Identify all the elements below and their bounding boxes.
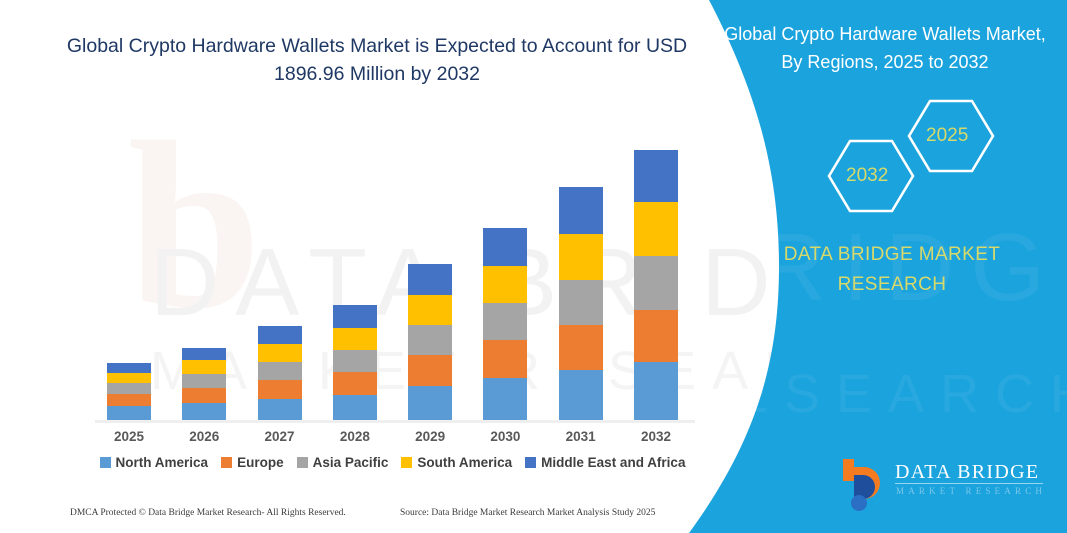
dbmr-logo-tagline: MARKET RESEARCH (896, 486, 1046, 496)
bar-segment[interactable] (107, 394, 151, 406)
bar-segment[interactable] (333, 305, 377, 328)
bar-segment[interactable] (182, 348, 226, 360)
x-tick-2028: 2028 (333, 429, 377, 449)
legend-label: Middle East and Africa (541, 455, 685, 470)
bar-column-2029[interactable] (408, 264, 452, 420)
bar-segment[interactable] (634, 202, 678, 256)
legend-item[interactable]: North America (100, 455, 209, 470)
legend-item[interactable]: Europe (221, 455, 284, 470)
dbmr-logo: DATA BRIDGE MARKET RESEARCH (837, 455, 1052, 513)
brand-text: DATA BRIDGE MARKET RESEARCH (742, 240, 1042, 300)
legend-item[interactable]: Asia Pacific (297, 455, 389, 470)
bar-segment[interactable] (258, 344, 302, 362)
x-axis-labels: 20252026202720282029203020312032 (95, 429, 690, 449)
legend-swatch-icon (100, 457, 111, 468)
bar-segment[interactable] (182, 388, 226, 403)
bar-segment[interactable] (258, 380, 302, 399)
legend-item[interactable]: Middle East and Africa (525, 455, 685, 470)
legend-item[interactable]: South America (401, 455, 512, 470)
footer: DMCA Protected © Data Bridge Market Rese… (0, 508, 700, 528)
bar-column-2026[interactable] (182, 348, 226, 420)
bar-segment[interactable] (107, 383, 151, 394)
footer-source: Source: Data Bridge Market Research Mark… (400, 508, 655, 518)
bar-segment[interactable] (559, 234, 603, 280)
legend-label: North America (116, 455, 209, 470)
dbmr-logo-rule (895, 483, 1043, 484)
bar-segment[interactable] (483, 378, 527, 420)
bar-segment[interactable] (559, 325, 603, 370)
bar-segment[interactable] (408, 325, 452, 355)
infographic-page: b DATA BRIDGE MARKET RESEARCH Global Cry… (0, 0, 1067, 533)
bar-segment[interactable] (634, 256, 678, 310)
bar-segment[interactable] (333, 350, 377, 372)
bar-segment[interactable] (559, 280, 603, 325)
x-tick-2029: 2029 (408, 429, 452, 449)
bar-segment[interactable] (483, 228, 527, 266)
bar-segment[interactable] (333, 328, 377, 350)
bar-segment[interactable] (258, 326, 302, 344)
bar-segment[interactable] (107, 373, 151, 383)
bar-column-2032[interactable] (634, 150, 678, 420)
legend-label: Europe (237, 455, 284, 470)
legend-swatch-icon (525, 457, 536, 468)
brand-panel: BRIDGE RESEARCH Global Crypto Hardware W… (687, 0, 1067, 533)
legend-label: Asia Pacific (313, 455, 389, 470)
bar-column-2025[interactable] (107, 363, 151, 420)
dbmr-logo-name: DATA BRIDGE (895, 461, 1039, 484)
bar-segment[interactable] (634, 150, 678, 202)
bar-segment[interactable] (634, 310, 678, 362)
bar-segment[interactable] (333, 395, 377, 420)
bar-segment[interactable] (333, 372, 377, 395)
x-tick-2032: 2032 (634, 429, 678, 449)
legend-label: South America (417, 455, 512, 470)
legend-swatch-icon (221, 457, 232, 468)
hexagon-pair: 2025 2032 (782, 95, 1012, 225)
footer-copyright: DMCA Protected © Data Bridge Market Rese… (70, 508, 346, 518)
bar-segment[interactable] (408, 295, 452, 325)
x-tick-2027: 2027 (258, 429, 302, 449)
brand-line-2: RESEARCH (742, 270, 1042, 300)
bar-segment[interactable] (483, 303, 527, 340)
bar-segment[interactable] (408, 386, 452, 420)
panel-title: Global Crypto Hardware Wallets Market, B… (720, 20, 1050, 76)
bar-segment[interactable] (258, 399, 302, 420)
bar-column-2031[interactable] (559, 187, 603, 420)
legend-swatch-icon (401, 457, 412, 468)
bar-segment[interactable] (559, 187, 603, 234)
bar-segment[interactable] (408, 355, 452, 386)
chart-legend: North AmericaEuropeAsia PacificSouth Ame… (95, 455, 690, 470)
bar-segment[interactable] (107, 363, 151, 373)
x-tick-2025: 2025 (107, 429, 151, 449)
bar-segment[interactable] (107, 406, 151, 420)
bar-segment[interactable] (258, 362, 302, 380)
bar-column-2030[interactable] (483, 228, 527, 420)
bar-segment[interactable] (483, 266, 527, 303)
hexagon-front-label: 2032 (846, 165, 888, 187)
bar-segment[interactable] (182, 374, 226, 388)
bar-segment[interactable] (634, 362, 678, 420)
hexagon-icons (782, 95, 1012, 225)
panel-content: Global Crypto Hardware Wallets Market, B… (687, 0, 1067, 533)
legend-swatch-icon (297, 457, 308, 468)
bar-segment[interactable] (182, 360, 226, 374)
hexagon-back-label: 2025 (926, 125, 968, 147)
x-tick-2026: 2026 (182, 429, 226, 449)
dbmr-logo-icon (837, 455, 895, 511)
x-tick-2031: 2031 (559, 429, 603, 449)
bar-segment[interactable] (483, 340, 527, 378)
bar-column-2028[interactable] (333, 305, 377, 420)
bar-segment[interactable] (182, 403, 226, 420)
x-tick-2030: 2030 (483, 429, 527, 449)
bar-segment[interactable] (408, 264, 452, 295)
bar-column-2027[interactable] (258, 326, 302, 420)
page-title: Global Crypto Hardware Wallets Market is… (62, 32, 692, 88)
bar-segment[interactable] (559, 370, 603, 420)
brand-line-1: DATA BRIDGE MARKET (742, 240, 1042, 270)
bar-group (95, 110, 690, 420)
bar-chart (95, 110, 690, 422)
